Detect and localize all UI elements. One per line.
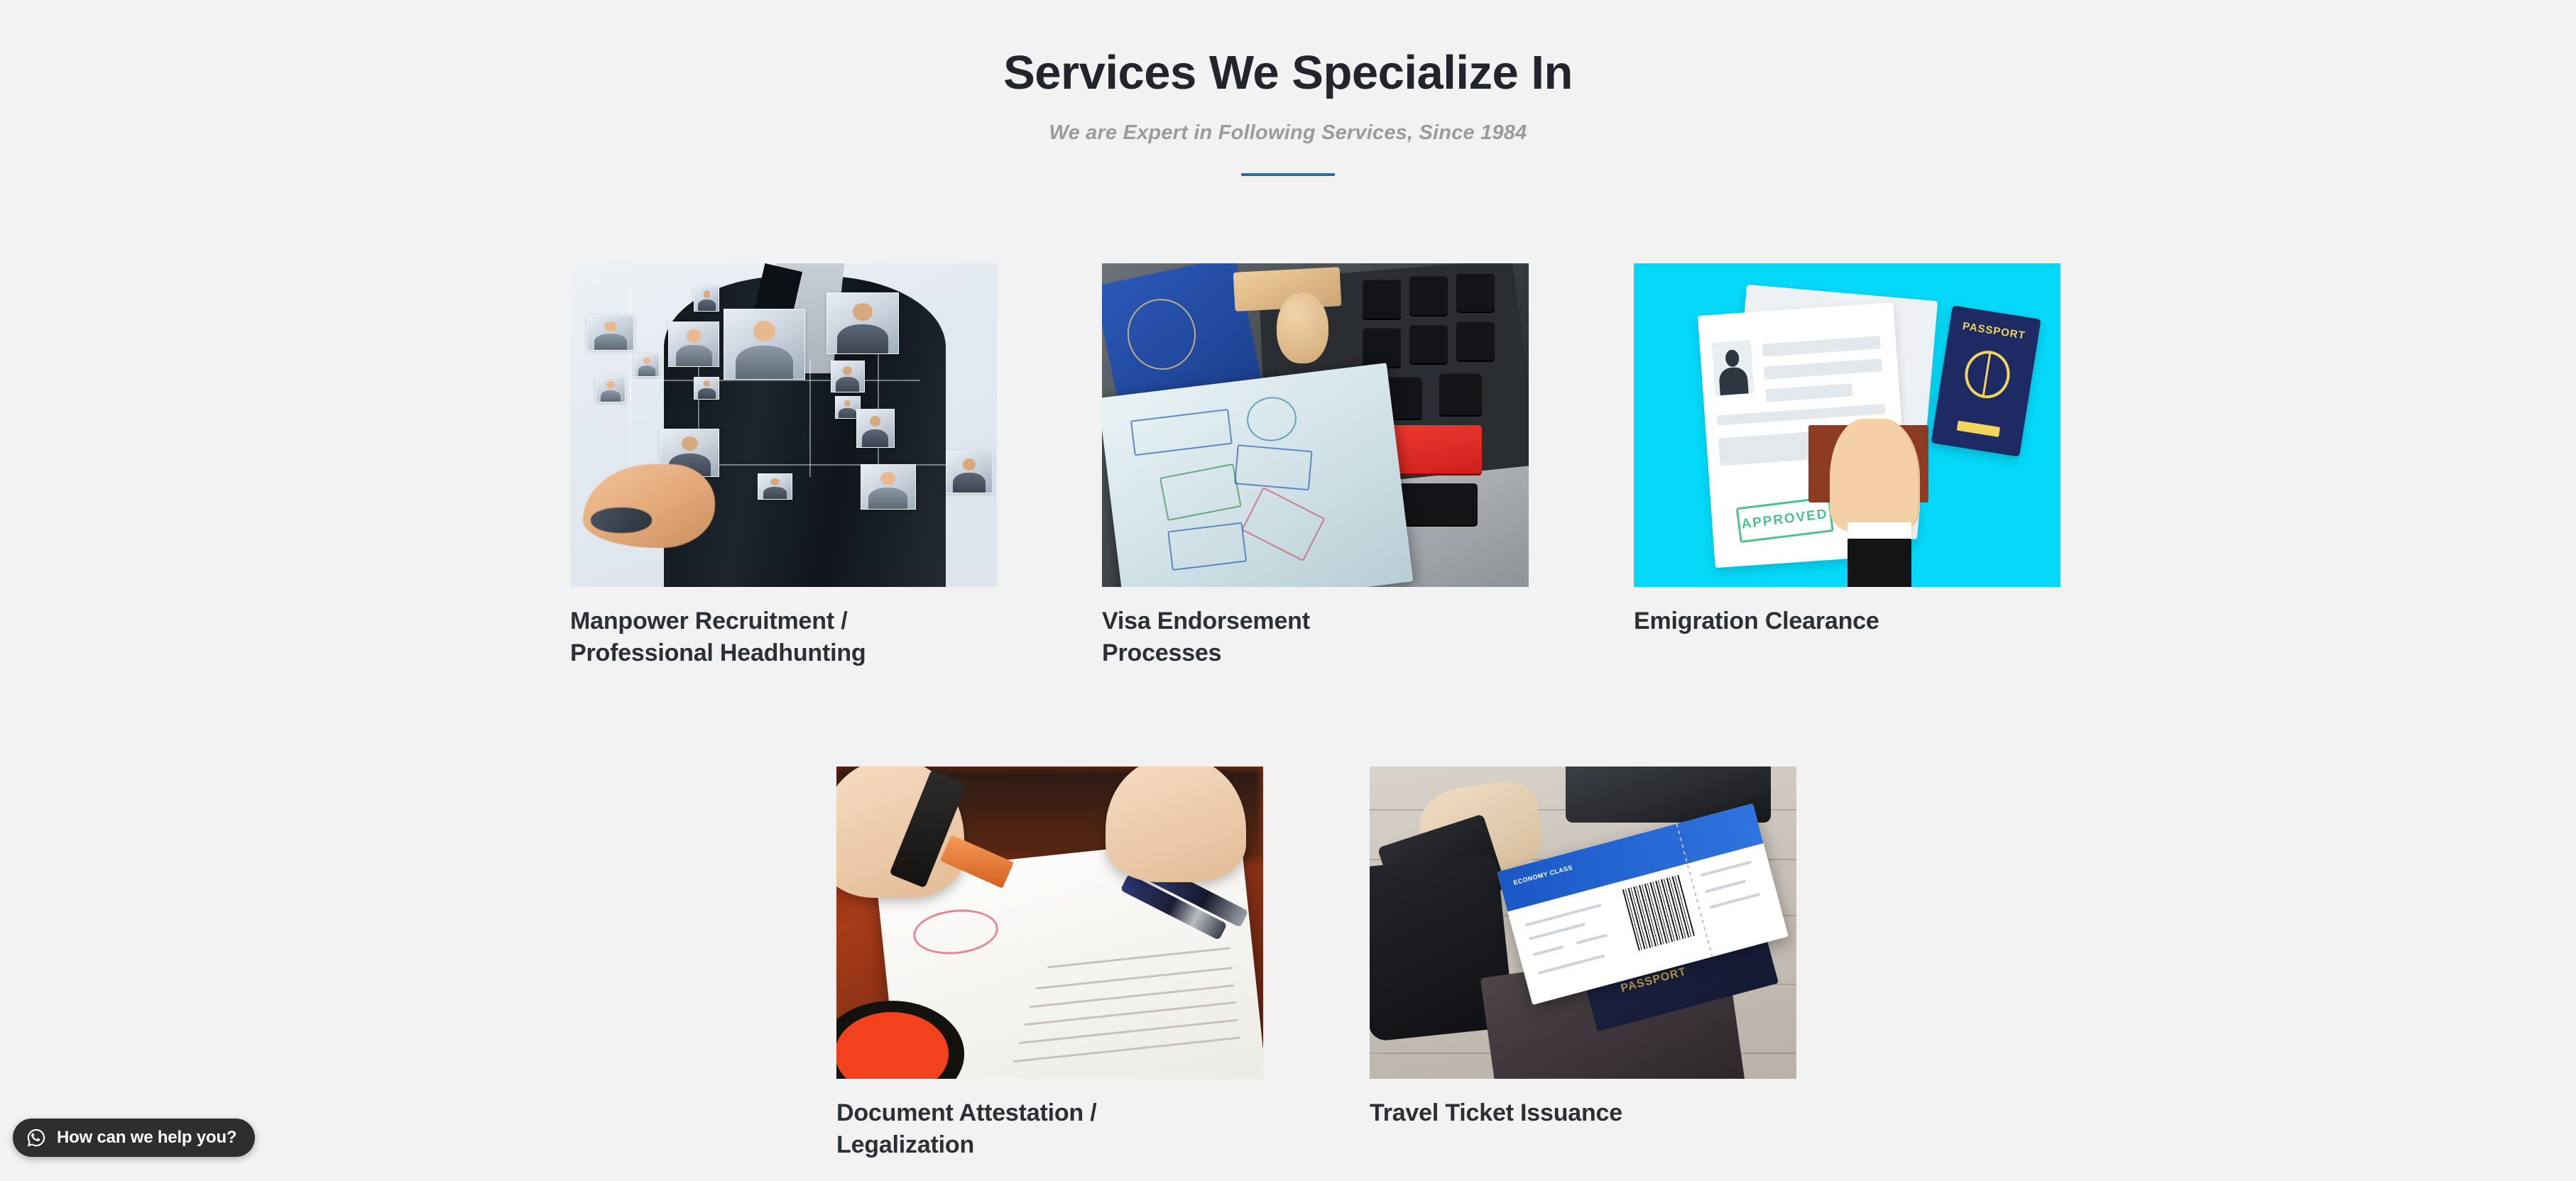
- passport-label: PASSPORT: [1948, 318, 2039, 344]
- whatsapp-help-button[interactable]: How can we help you?: [13, 1119, 255, 1157]
- service-image-travel-ticket: [1370, 767, 1796, 1079]
- service-card-document-attestation[interactable]: Document Attestation / Legalization: [836, 767, 1263, 1161]
- service-card-visa-endorsement[interactable]: Visa Endorsement Processes: [1102, 263, 1529, 669]
- service-image-manpower-recruitment: [570, 263, 997, 587]
- service-title: Document Attestation / Legalization: [836, 1097, 1263, 1161]
- approved-stamp-text: APPROVED: [1736, 496, 1834, 543]
- service-title: Emigration Clearance: [1634, 605, 2061, 637]
- travel-ticket-photo-art: [1370, 767, 1796, 1079]
- visa-photo-art: [1102, 263, 1529, 587]
- section-header: Services We Specialize In We are Expert …: [0, 0, 2576, 176]
- service-card-manpower-recruitment[interactable]: Manpower Recruitment / Professional Head…: [570, 263, 997, 669]
- emigration-illustration: APPROVED PASSPORT: [1634, 263, 2061, 587]
- service-title: Travel Ticket Issuance: [1370, 1097, 1796, 1129]
- page-title: Services We Specialize In: [0, 48, 2576, 98]
- services-section-page: Services We Specialize In We are Expert …: [0, 0, 2576, 1181]
- service-image-document-attestation: [836, 767, 1263, 1079]
- service-image-visa-endorsement: [1102, 263, 1529, 587]
- whatsapp-help-label: How can we help you?: [57, 1128, 236, 1148]
- service-card-travel-ticket[interactable]: Travel Ticket Issuance: [1370, 767, 1796, 1161]
- services-row-top: Manpower Recruitment / Professional Head…: [570, 263, 2061, 669]
- applicant-photo-icon: [1711, 340, 1754, 395]
- service-title: Visa Endorsement Processes: [1102, 605, 1529, 669]
- service-title: Manpower Recruitment / Professional Head…: [570, 605, 997, 669]
- attestation-photo-art: [836, 767, 1263, 1079]
- service-card-emigration-clearance[interactable]: APPROVED PASSPORT Emigration Clearance: [1634, 263, 2061, 669]
- whatsapp-icon: [26, 1127, 47, 1148]
- passport-illustration: PASSPORT: [1931, 306, 2041, 457]
- services-row-bottom: Document Attestation / Legalization: [836, 767, 1796, 1161]
- service-image-emigration-clearance: APPROVED PASSPORT: [1634, 263, 2061, 587]
- title-divider: [1241, 173, 1335, 176]
- section-subtitle: We are Expert in Following Services, Sin…: [0, 121, 2576, 145]
- recruitment-photo-art: [570, 263, 997, 587]
